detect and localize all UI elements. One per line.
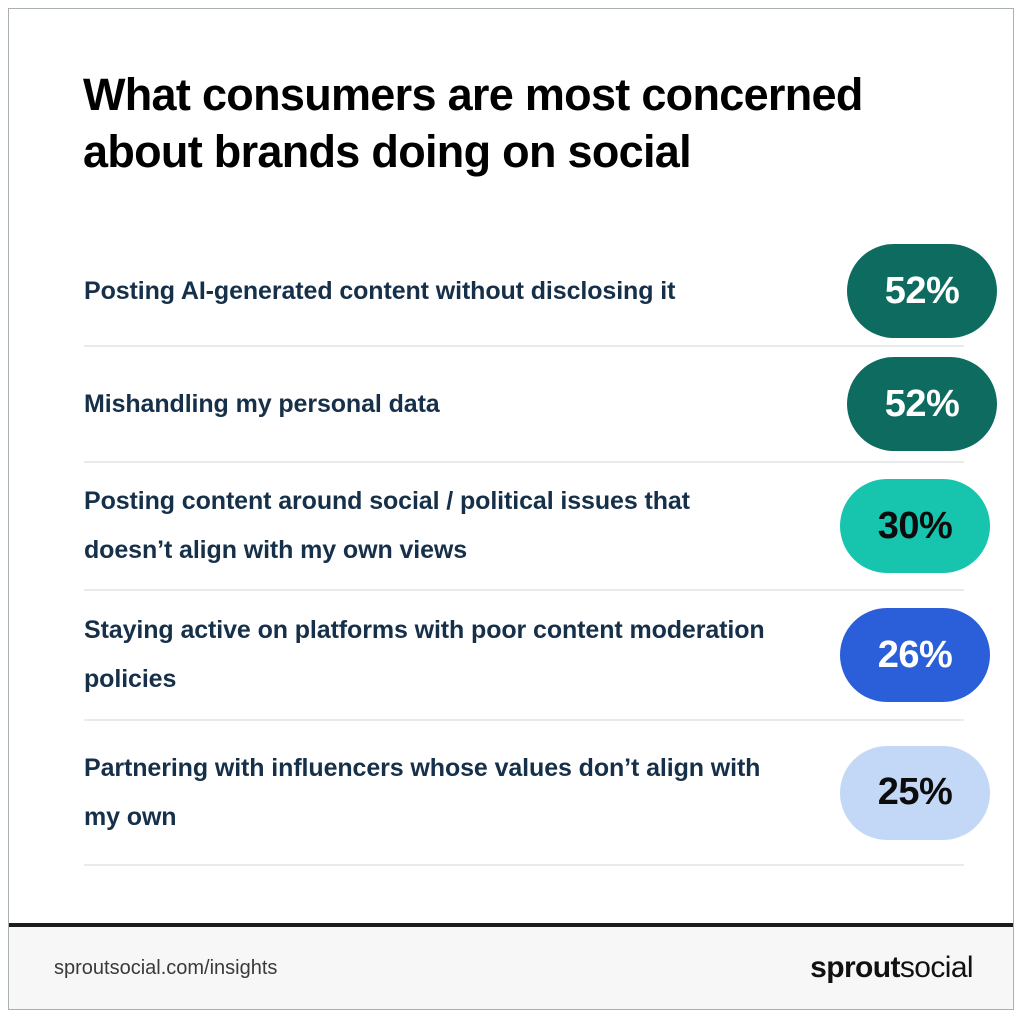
stat-value-badge: 52% xyxy=(847,244,997,338)
stat-label: Staying active on platforms with poor co… xyxy=(84,606,774,704)
infographic-card: What consumers are most concerned about … xyxy=(8,8,1014,1010)
stat-label: Partnering with influencers whose values… xyxy=(84,744,774,842)
stat-value-badge: 30% xyxy=(840,479,990,573)
page-title: What consumers are most concerned about … xyxy=(83,67,983,180)
stat-label: Posting AI-generated content without dis… xyxy=(84,276,675,306)
logo-wordmark-bold: sprout xyxy=(810,951,900,984)
logo-wordmark-light: social xyxy=(900,951,973,984)
list-item: Partnering with influencers whose values… xyxy=(84,721,964,866)
stat-value-badge: 26% xyxy=(840,608,990,702)
footer-url[interactable]: sproutsocial.com/insights xyxy=(54,957,277,980)
list-item: Staying active on platforms with poor co… xyxy=(84,591,964,721)
stat-list: Posting AI-generated content without dis… xyxy=(84,237,964,866)
stat-value-badge: 52% xyxy=(847,357,997,451)
sprout-social-logo: sproutsocial xyxy=(810,951,973,985)
stat-label: Mishandling my personal data xyxy=(84,389,440,419)
footer: sproutsocial.com/insights sproutsocial xyxy=(9,923,1013,1009)
stat-value-badge: 25% xyxy=(840,746,990,840)
card-body: What consumers are most concerned about … xyxy=(9,9,1013,923)
list-item: Mishandling my personal data 52% xyxy=(84,347,964,463)
stat-label: Posting content around social / politica… xyxy=(84,477,774,575)
list-item: Posting AI-generated content without dis… xyxy=(84,237,964,347)
list-item: Posting content around social / politica… xyxy=(84,463,964,591)
